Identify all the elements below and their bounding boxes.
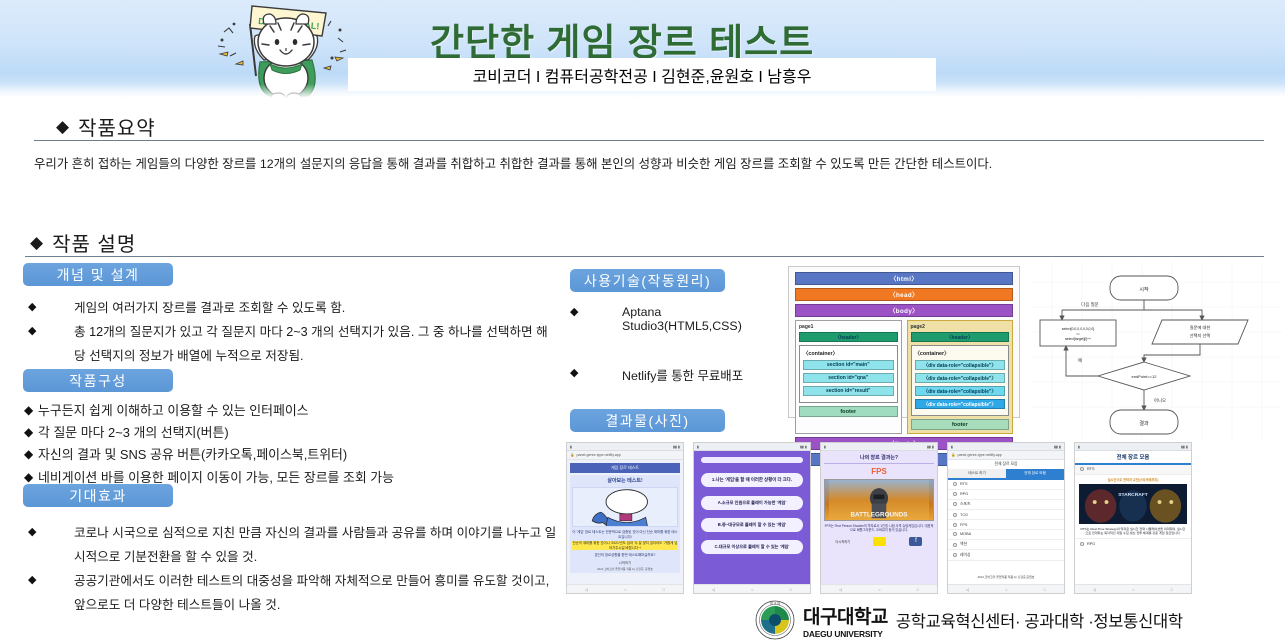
tab-all-genres[interactable]: 전체 장르 모음 [1006, 469, 1064, 478]
option-b[interactable]: B.중~대규모로 플레이 할 수 있는 '게임' [701, 518, 803, 532]
page2-box: page2 〈header〉 〈container〉 〈div data-rol… [907, 320, 1014, 434]
chevron-icon [953, 513, 957, 517]
diamond-bullet-icon: ◆ [28, 321, 74, 342]
intro-header: 게임 장르 테스트 [570, 463, 680, 473]
svg-text:STARCRAFT: STARCRAFT [1118, 492, 1148, 498]
diamond-bullet-icon: ◆ [28, 522, 74, 543]
list-item: ◆ 코로나 시국으로 심적으로 지친 만큼 자신의 결과를 사람들과 공유를 하… [28, 522, 558, 570]
intro-question: 본인의 장르성향을 한번 테스트해보실까요? [572, 552, 678, 557]
url-text: panel-genre-type.netlify.app [576, 453, 620, 457]
diamond-bullet-icon: ◆ [24, 400, 38, 421]
nav-bar[interactable]: ◁○□ [821, 584, 937, 593]
genre-item-rts[interactable]: RTS [948, 480, 1064, 490]
intro-footer: 2021 코비코더 졸업작품 작품 by 김현준, 윤원호 [572, 567, 678, 571]
tag-body: 〈body〉 [795, 304, 1013, 317]
diamond-bullet-icon: ◆ [30, 234, 43, 251]
description-heading: ◆ 작품 설명 [30, 228, 136, 257]
nav-bar[interactable]: ◁○□ [948, 584, 1064, 593]
collapsible-1: 〈div data-role="collapsible"〉 [915, 360, 1006, 370]
list-header: 전체 장르 모음 [948, 460, 1064, 469]
diamond-bullet-icon: ◆ [570, 305, 622, 318]
lock-icon: 🔒 [570, 453, 574, 457]
svg-text:질문에 대한: 질문에 대한 [1190, 324, 1211, 331]
chevron-icon [953, 543, 957, 547]
flow-store-label: select[target][i]++ [1065, 337, 1091, 341]
detail-caption: 실시간으로 전략과 교전(스타크래프트) [1075, 475, 1191, 484]
page2-footer: footer [911, 419, 1010, 430]
page1-footer: footer [799, 406, 898, 417]
url-bar[interactable]: 🔒 panel-genre-type.netlify.app [948, 451, 1064, 460]
genre-item-racing[interactable]: 레이싱 [948, 550, 1064, 561]
diamond-bullet-icon: ◆ [28, 297, 74, 318]
result-body: FPS는 First Person Shooter의 약자로서 1인칭 시점 사… [824, 524, 934, 533]
university-name-ko: 대구대학교 [803, 602, 888, 629]
concept-list: ◆ 게임의 여러가지 장르를 결과로 조회할 수 있도록 함. ◆ 총 12개의… [28, 297, 553, 369]
page1-header-tag: 〈header〉 [799, 332, 898, 342]
svg-text:대 구 대: 대 구 대 [770, 601, 780, 606]
flowchart-diagram: 시작 다음 질문 질문에 대한 선택지 선택 select[0,0,0,0,0,… [1032, 262, 1282, 440]
list-item: ◆ 누구든지 쉽게 이해하고 이용할 수 있는 인터페이스 [24, 400, 559, 422]
genre-item-sports[interactable]: 스포츠 [948, 500, 1064, 511]
screenshot-gallery: ▮▮▮ ▮ 🔒 panel-genre-type.netlify.app 게임 … [566, 442, 1192, 594]
status-bar: ▮▮▮ ▮ [694, 443, 810, 451]
diamond-bullet-icon: ◆ [56, 118, 69, 135]
facebook-share-icon[interactable]: f [909, 537, 922, 546]
flow-next-label: 다음 질문 [1081, 301, 1098, 308]
option-a[interactable]: A.소규모 인원으로 플레이 가능한 '게임' [701, 496, 803, 510]
progress-bar [701, 457, 803, 463]
status-bar: ▮▮▮ ▮ [567, 443, 683, 451]
screenshot-genre-list: ▮▮▮ ▮ 🔒 panel-genre-type.netlify.app 전체 … [947, 442, 1065, 594]
chevron-icon [953, 532, 957, 536]
page2-header-tag: 〈header〉 [911, 332, 1010, 342]
nav-bar[interactable]: ◁○□ [694, 584, 810, 593]
section-main: section id="main" [803, 360, 894, 370]
status-bar: ▮▮▮ ▮ [821, 443, 937, 451]
list-item: ◆ 자신의 결과 및 SNS 공유 버튼(카카오톡,페이스북,트위터) [24, 444, 559, 466]
list-item: ◆ 각 질문 마다 2~3 개의 선택지(버튼) [24, 422, 559, 444]
list-item: ◆ 총 12개의 질문지가 있고 각 질문지 마다 2~3 개의 선택지가 있음… [28, 321, 553, 369]
container-label: 〈container〉 [915, 349, 1006, 357]
section-qna: section id="qna" [803, 373, 894, 383]
list-item: ◆ 공공기관에서도 이러한 테스트의 대중성을 파악해 자체적으로 만들어 흥미… [28, 570, 558, 618]
genre-item-rpg[interactable]: RPG [948, 490, 1064, 500]
tag-html: 〈html〉 [795, 272, 1013, 285]
chevron-icon [953, 482, 957, 486]
badge-result: 결과물(사진) [570, 409, 725, 432]
genre-item-moba[interactable]: MOBA [948, 530, 1064, 540]
chevron-icon [953, 553, 957, 557]
flow-end-label: 결과 [1139, 420, 1149, 427]
flow-decision-label: endPoint==12 [1132, 374, 1158, 379]
page2-container: 〈container〉 〈div data-role="collapsible"… [911, 345, 1010, 416]
list-footer: 2021 코비코더 졸업작품 작품 by 김현준,윤원호 [948, 575, 1064, 579]
nav-bar[interactable]: ◁○□ [567, 584, 683, 593]
tech-list: ◆ Aptana Studio3(HTML5,CSS) ◆ Netlify를 통… [570, 305, 780, 384]
screenshot-result: ▮▮▮ ▮ 나의 장르 결과는? FPS BATTLEGROUNDS FPS는 … [820, 442, 938, 594]
screenshot-intro: ▮▮▮ ▮ 🔒 panel-genre-type.netlify.app 게임 … [566, 442, 684, 594]
collapsible-3: 〈div data-role="collapsible"〉 [915, 386, 1006, 396]
collapsible-4: 〈div data-role="collapsible"〉 [915, 399, 1006, 409]
tab-test[interactable]: 테스트 하기 [948, 469, 1006, 478]
badge-effect: 기대효과 [23, 484, 173, 507]
option-c[interactable]: C.대규모 이상으로 플레이 할 수 있는 '게임' [701, 540, 803, 554]
html-structure-diagram: 〈html〉 〈head〉 〈body〉 page1 〈header〉 〈con… [788, 266, 1020, 418]
daegu-university-logo-icon: 대 구 대 [755, 600, 795, 640]
university-name-en: DAEGU UNIVERSITY [803, 629, 888, 639]
page1-container: 〈container〉 section id="main" section id… [799, 345, 898, 403]
chevron-icon [1080, 542, 1084, 546]
diamond-bullet-icon: ◆ [570, 366, 622, 379]
university-departments: 공학교육혁신센터· 공과대학 ·정보통신대학 [896, 608, 1183, 632]
intro-body: 이 '게임' 장르 테스트는 전문적으로 검증된 것이 아닌 단순 재미를 위한… [572, 530, 678, 539]
question-text: 1.나는 '게임'을 할 때 이러한 상황이 더 크다. [701, 473, 803, 487]
svg-text:BATTLEGROUNDS: BATTLEGROUNDS [850, 511, 907, 518]
diamond-bullet-icon: ◆ [24, 422, 38, 443]
list-item: ◆ Aptana Studio3(HTML5,CSS) [570, 305, 780, 333]
diamond-bullet-icon: ◆ [28, 570, 74, 591]
svg-text:==: == [1076, 332, 1080, 336]
url-bar[interactable]: 🔒 panel-genre-type.netlify.app [567, 451, 683, 460]
status-bar: ▮▮▮ ▮ [948, 443, 1064, 451]
kakao-share-icon[interactable] [873, 537, 886, 546]
flow-select-label: 선택지 선택 [1190, 332, 1211, 339]
poster-header: DU FESTIVAL! 간단한 게임 장르 테스트 코비코더 I 컴 [0, 0, 1285, 98]
genre-item-action[interactable]: 액션 [948, 540, 1064, 551]
university-footer: 대 구 대 대구대학교 DAEGU UNIVERSITY 공학교육혁신센터· 공… [755, 600, 1183, 640]
container-label: 〈container〉 [803, 349, 894, 357]
intro-highlight: 단순히 재미를 위한 것이니 '2021'년도 검과 '두 잘 맞지 않더라도 … [572, 541, 678, 550]
collapsible-2: 〈div data-role="collapsible"〉 [915, 373, 1006, 383]
genre-item-fps[interactable]: FPS [948, 520, 1064, 530]
description-divider [25, 256, 1264, 257]
detail-item-rpg[interactable]: RPG [1075, 538, 1191, 548]
section-result: section id="result" [803, 386, 894, 396]
badge-composition: 작품구성 [23, 369, 173, 392]
intro-title: 살아보는 테스트! [572, 477, 678, 484]
composition-list: ◆ 누구든지 쉽게 이해하고 이용할 수 있는 인터페이스 ◆ 각 질문 마다 … [24, 400, 559, 489]
chevron-icon [1080, 467, 1084, 471]
chevron-icon [953, 492, 957, 496]
list-item: ◆ 게임의 여러가지 장르를 결과로 조회할 수 있도록 함. [28, 297, 553, 321]
status-bar: ▮▮▮ ▮ [1075, 443, 1191, 451]
diamond-bullet-icon: ◆ [24, 444, 38, 465]
svg-text:select[0,0,0,0,0,0,0,0]: select[0,0,0,0,0,0,0,0] [1062, 327, 1094, 331]
header-fade [0, 84, 1285, 98]
intro-start-button[interactable]: 시작하기 [572, 560, 678, 565]
lock-icon: 🔒 [951, 453, 955, 457]
flow-start-label: 시작 [1139, 286, 1149, 293]
effect-list: ◆ 코로나 시국으로 심적으로 지친 만큼 자신의 결과를 사람들과 공유를 하… [28, 522, 558, 618]
share-restart-button[interactable]: 더시작하기 [836, 539, 851, 544]
url-text: panel-genre-type.netlify.app [957, 453, 1001, 457]
tag-head: 〈head〉 [795, 288, 1013, 301]
flow-yes-label: 예 [1078, 357, 1082, 364]
screenshot-genre-detail: ▮▮▮ ▮ 전체 장르 모음 RTS 실시간으로 전략과 교전(스타크래프트) … [1074, 442, 1192, 594]
poster-subtitle: 코비코더 I 컴퓨터공학전공 I 김현준,윤원호 I 남흥우 [473, 63, 812, 87]
page2-label: page2 [911, 324, 1010, 330]
nav-bar[interactable]: ◁○□ [1075, 584, 1191, 593]
badge-tech: 사용기술(작동원리) [570, 269, 725, 292]
chevron-icon [953, 502, 957, 506]
chevron-icon [953, 523, 957, 527]
flow-no-label: 아니오 [1154, 397, 1166, 404]
summary-divider [34, 140, 1264, 141]
page1-label: page1 [799, 324, 898, 330]
genre-item-tcg[interactable]: TCG [948, 510, 1064, 520]
result-genre: FPS [824, 467, 934, 476]
page1-box: page1 〈header〉 〈container〉 section id="m… [795, 320, 902, 434]
list-item: ◆ Netlify를 통한 무료배포 [570, 366, 780, 384]
detail-header: 전체 장르 모음 [1075, 451, 1191, 465]
badge-concept: 개념 및 설계 [23, 263, 173, 286]
result-header: 나의 장르 결과는? [824, 454, 934, 464]
summary-heading: ◆ 작품요약 [56, 112, 156, 141]
screenshot-question: ▮▮▮ ▮ 1.나는 '게임'을 할 때 이러한 상황이 더 크다. A.소규모… [693, 442, 811, 594]
detail-item-rts[interactable]: RTS [1075, 465, 1191, 475]
detail-body: RTS는 Real-Time Strategy의 약자로 실시간 전략 시뮬레이… [1075, 524, 1191, 539]
summary-text: 우리가 흔히 접하는 게임들의 다양한 장르를 12개의 설문지의 응답을 통해… [34, 155, 1264, 174]
